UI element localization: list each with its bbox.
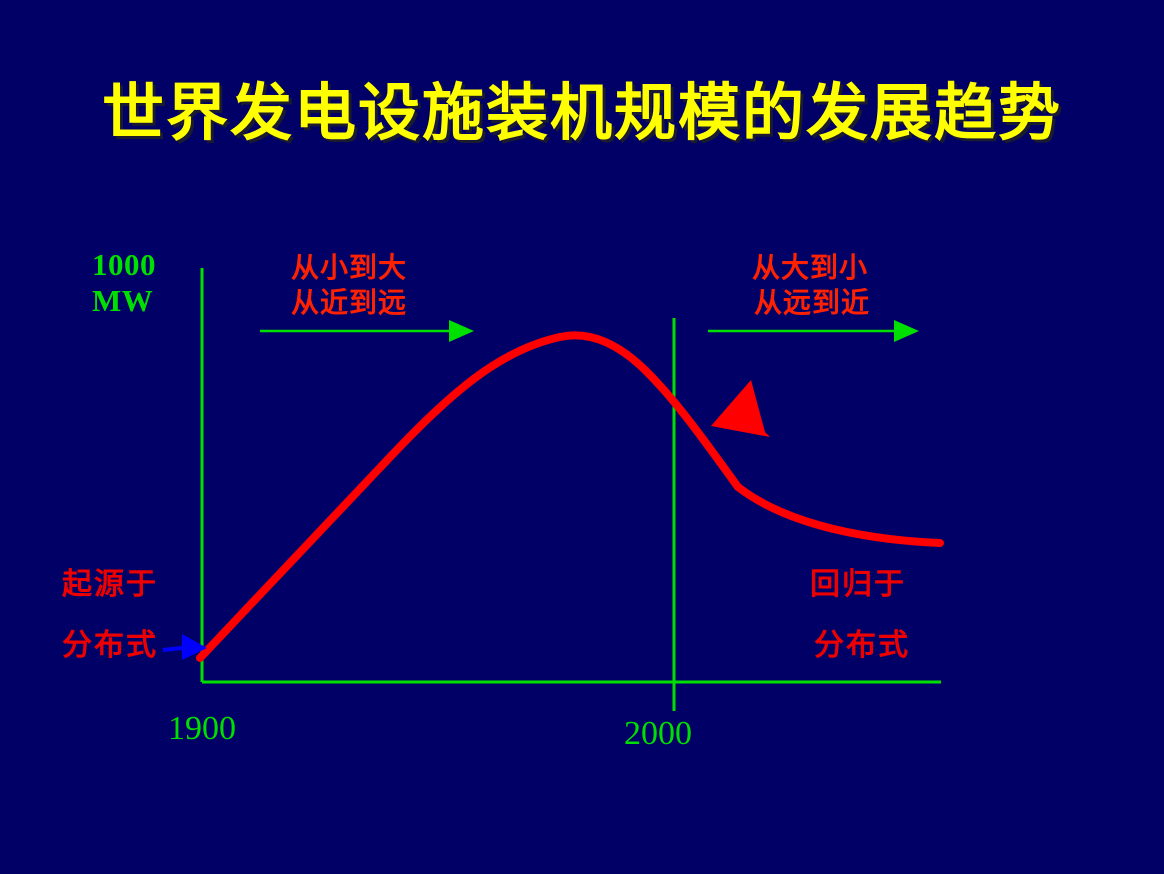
slide-canvas: 世界发电设施装机规模的发展趋势 1000 MW 1900 200 xyxy=(0,0,1164,874)
growth-phase-annotation-line2: 从近到远 xyxy=(291,285,407,320)
decline-phase-annotation: 从大到小 从远到近 xyxy=(752,250,870,320)
origin-annotation-line1: 起源于 xyxy=(62,567,158,603)
growth-phase-arrow xyxy=(260,320,474,342)
decline-phase-annotation-line2: 从远到近 xyxy=(752,285,870,320)
decline-phase-arrow xyxy=(708,320,919,342)
growth-phase-annotation: 从小到大 从近到远 xyxy=(291,250,407,320)
growth-phase-annotation-line1: 从小到大 xyxy=(291,250,407,285)
origin-annotation-line2: 分布式 xyxy=(62,628,158,664)
return-annotation-line1: 回归于 xyxy=(810,567,906,603)
return-annotation-line2: 分布式 xyxy=(814,628,910,664)
decline-arrowhead-icon xyxy=(711,380,770,437)
decline-phase-annotation-line1: 从大到小 xyxy=(752,250,870,285)
trend-curve xyxy=(200,335,940,658)
x-axis-tick-1900: 1900 xyxy=(168,711,236,747)
y-axis-unit-name: MW xyxy=(92,282,153,320)
y-axis-unit-value: 1000 xyxy=(92,246,156,284)
x-axis-tick-2000: 2000 xyxy=(624,716,692,752)
